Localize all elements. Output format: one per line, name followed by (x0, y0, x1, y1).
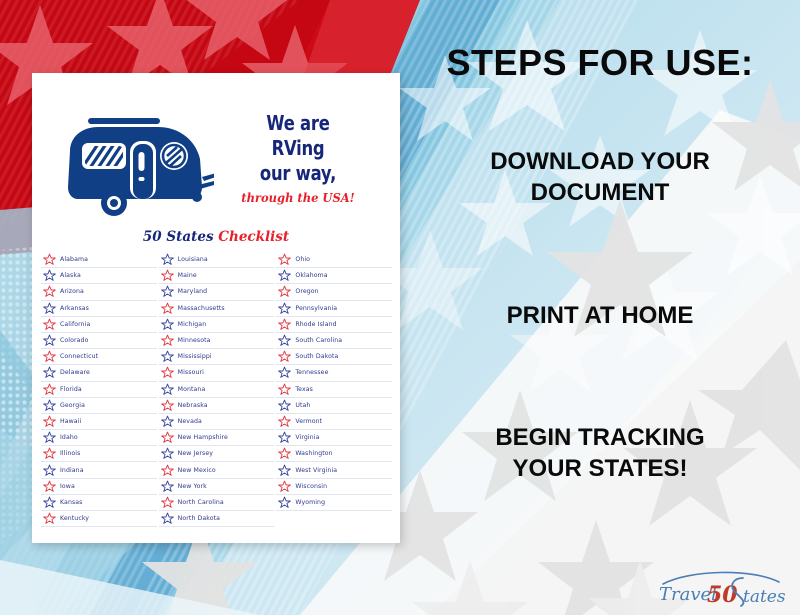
state-row[interactable]: Florida (41, 382, 157, 398)
star-checkbox-icon[interactable] (43, 302, 56, 315)
state-label: New York (178, 483, 207, 490)
state-row[interactable]: Kansas (41, 495, 157, 511)
state-row[interactable]: Rhode Island (276, 317, 392, 333)
headline-script: through the USA! (221, 190, 376, 205)
star-checkbox-icon[interactable] (43, 399, 56, 412)
printable-checklist-card: We are RVing our way, through the USA! 5… (32, 73, 400, 543)
travel-50-states-logo: Travel 50 tates (655, 562, 790, 608)
state-row[interactable]: Texas (276, 382, 392, 398)
star-checkbox-icon[interactable] (278, 496, 291, 509)
star-checkbox-icon[interactable] (43, 447, 56, 460)
state-row[interactable]: California (41, 317, 157, 333)
star-checkbox-icon[interactable] (278, 269, 291, 282)
headline-block: We are RVing our way, through the USA! (214, 111, 382, 205)
state-label: Wyoming (295, 499, 325, 506)
state-label: California (60, 321, 90, 328)
state-row[interactable]: Massachusetts (159, 301, 275, 317)
star-checkbox-icon[interactable] (278, 318, 291, 331)
star-checkbox-icon[interactable] (43, 366, 56, 379)
state-row[interactable]: Pennsylvania (276, 301, 392, 317)
star-checkbox-icon[interactable] (161, 334, 174, 347)
star-checkbox-icon[interactable] (278, 285, 291, 298)
star-checkbox-icon[interactable] (161, 366, 174, 379)
logo-number-50: 50 (707, 582, 738, 608)
state-label: Indiana (60, 467, 84, 474)
star-checkbox-icon[interactable] (43, 334, 56, 347)
star-checkbox-icon[interactable] (161, 253, 174, 266)
state-label: Mississippi (178, 353, 212, 360)
step-download-line-2: DOCUMENT (404, 177, 796, 208)
state-row[interactable]: South Carolina (276, 333, 392, 349)
state-label: Washington (295, 450, 332, 457)
state-label: Idaho (60, 434, 78, 441)
state-label: Arkansas (60, 305, 89, 312)
checklist-title-red: Checklist (218, 229, 289, 245)
star-checkbox-icon[interactable] (278, 302, 291, 315)
star-checkbox-icon[interactable] (161, 512, 174, 525)
state-label: Virginia (295, 434, 319, 441)
state-label: Wisconsin (295, 483, 327, 490)
star-checkbox-icon[interactable] (161, 480, 174, 493)
star-checkbox-icon[interactable] (278, 480, 291, 493)
rv-camper-icon (54, 111, 214, 223)
step-download-line-1: DOWNLOAD YOUR (404, 146, 796, 177)
star-checkbox-icon[interactable] (161, 318, 174, 331)
state-row[interactable]: Arkansas (41, 301, 157, 317)
state-column-2: LouisianaMaineMarylandMassachusettsMichi… (159, 252, 275, 527)
state-label: Kentucky (60, 515, 89, 522)
headline-line-2: RVing (229, 136, 367, 161)
star-checkbox-icon[interactable] (278, 447, 291, 460)
star-checkbox-icon[interactable] (43, 253, 56, 266)
state-row[interactable]: Nebraska (159, 398, 275, 414)
state-label: West Virginia (295, 467, 337, 474)
state-row[interactable]: North Dakota (159, 511, 275, 527)
state-row[interactable]: West Virginia (276, 462, 392, 478)
state-label: Utah (295, 402, 310, 409)
star-checkbox-icon[interactable] (161, 431, 174, 444)
star-checkbox-icon[interactable] (161, 447, 174, 460)
headline-line-1: We are (229, 111, 367, 136)
star-checkbox-icon[interactable] (278, 383, 291, 396)
state-label: Texas (295, 386, 313, 393)
state-row[interactable]: Maryland (159, 284, 275, 300)
star-checkbox-icon[interactable] (43, 512, 56, 525)
state-label: Alabama (60, 256, 88, 263)
state-row[interactable]: Mississippi (159, 349, 275, 365)
state-label: Nevada (178, 418, 202, 425)
state-label: Kansas (60, 499, 83, 506)
state-row[interactable]: New Jersey (159, 446, 275, 462)
state-label: Minnesota (178, 337, 211, 344)
state-label: Georgia (60, 402, 85, 409)
state-row[interactable]: Indiana (41, 462, 157, 478)
state-row[interactable]: Vermont (276, 414, 392, 430)
state-label: Rhode Island (295, 321, 336, 328)
state-label: Illinois (60, 450, 80, 457)
state-row[interactable]: Nevada (159, 414, 275, 430)
star-checkbox-icon[interactable] (278, 431, 291, 444)
star-checkbox-icon[interactable] (161, 350, 174, 363)
state-label: Pennsylvania (295, 305, 337, 312)
state-row[interactable]: Illinois (41, 446, 157, 462)
state-row[interactable]: Delaware (41, 365, 157, 381)
star-checkbox-icon[interactable] (43, 318, 56, 331)
star-checkbox-icon[interactable] (43, 464, 56, 477)
state-row[interactable]: Minnesota (159, 333, 275, 349)
state-label: Hawaii (60, 418, 81, 425)
step-download: DOWNLOAD YOUR DOCUMENT (404, 146, 796, 208)
state-label: Arizona (60, 288, 84, 295)
step-print: PRINT AT HOME (404, 300, 796, 331)
state-label: North Dakota (178, 515, 220, 522)
state-column-1: AlabamaAlaskaArizonaArkansasCaliforniaCo… (41, 252, 157, 527)
state-row[interactable]: Washington (276, 446, 392, 462)
state-column-3: OhioOklahomaOregonPennsylvaniaRhode Isla… (276, 252, 392, 527)
state-row[interactable]: Missouri (159, 365, 275, 381)
state-label: Maryland (178, 288, 208, 295)
state-row[interactable]: Wisconsin (276, 479, 392, 495)
state-label: Delaware (60, 369, 90, 376)
star-checkbox-icon[interactable] (161, 383, 174, 396)
star-checkbox-icon[interactable] (161, 269, 174, 282)
state-row[interactable]: Wyoming (276, 495, 392, 511)
state-row[interactable]: Iowa (41, 479, 157, 495)
star-checkbox-icon[interactable] (278, 399, 291, 412)
headline-line-3: our way, (229, 161, 367, 186)
star-checkbox-icon[interactable] (43, 496, 56, 509)
state-row[interactable]: Oklahoma (276, 268, 392, 284)
star-checkbox-icon[interactable] (43, 383, 56, 396)
star-checkbox-icon[interactable] (43, 285, 56, 298)
star-checkbox-icon[interactable] (161, 464, 174, 477)
state-row[interactable]: Virginia (276, 430, 392, 446)
star-checkbox-icon[interactable] (43, 431, 56, 444)
star-checkbox-icon[interactable] (43, 350, 56, 363)
star-checkbox-icon[interactable] (278, 334, 291, 347)
state-row[interactable]: New Mexico (159, 462, 275, 478)
checklist-title-navy: 50 States (143, 229, 214, 245)
state-row[interactable]: Tennessee (276, 365, 392, 381)
state-row[interactable]: Kentucky (41, 511, 157, 527)
state-label: Alaska (60, 272, 81, 279)
state-label: Oregon (295, 288, 318, 295)
state-row[interactable]: Michigan (159, 317, 275, 333)
state-label: Montana (178, 386, 206, 393)
checklist-title: 50 States Checklist (32, 229, 400, 245)
star-checkbox-icon[interactable] (43, 415, 56, 428)
star-checkbox-icon[interactable] (161, 496, 174, 509)
logo-word-states: tates (743, 587, 786, 607)
state-label: North Carolina (178, 499, 224, 506)
state-label: Florida (60, 386, 82, 393)
state-label: New Mexico (178, 467, 216, 474)
state-label: New Jersey (178, 450, 213, 457)
state-row[interactable]: Louisiana (159, 252, 275, 268)
state-row[interactable]: Ohio (276, 252, 392, 268)
state-label: Connecticut (60, 353, 98, 360)
state-row[interactable]: Oregon (276, 284, 392, 300)
step-track: BEGIN TRACKING YOUR STATES! (404, 422, 796, 484)
star-checkbox-icon[interactable] (43, 480, 56, 493)
star-checkbox-icon[interactable] (161, 399, 174, 412)
state-label: Nebraska (178, 402, 208, 409)
state-row[interactable]: Arizona (41, 284, 157, 300)
state-columns: AlabamaAlaskaArizonaArkansasCaliforniaCo… (32, 252, 400, 527)
state-row[interactable]: Alaska (41, 268, 157, 284)
state-label: Oklahoma (295, 272, 327, 279)
state-label: Vermont (295, 418, 322, 425)
state-label: Tennessee (295, 369, 328, 376)
star-checkbox-icon[interactable] (278, 464, 291, 477)
state-label: New Hampshire (178, 434, 228, 441)
card-header: We are RVing our way, through the USA! (32, 73, 400, 225)
state-label: South Dakota (295, 353, 338, 360)
state-label: Missouri (178, 369, 204, 376)
state-label: Louisiana (178, 256, 208, 263)
state-label: Colorado (60, 337, 88, 344)
star-checkbox-icon[interactable] (43, 269, 56, 282)
state-row[interactable]: New Hampshire (159, 430, 275, 446)
state-row[interactable]: Colorado (41, 333, 157, 349)
state-row[interactable]: Idaho (41, 430, 157, 446)
state-row[interactable]: Connecticut (41, 349, 157, 365)
steps-heading: STEPS FOR USE: (404, 42, 796, 84)
state-label: Massachusetts (178, 305, 225, 312)
state-row[interactable]: Georgia (41, 398, 157, 414)
star-checkbox-icon[interactable] (161, 302, 174, 315)
star-checkbox-icon[interactable] (161, 415, 174, 428)
state-label: Maine (178, 272, 197, 279)
star-checkbox-icon[interactable] (278, 415, 291, 428)
step-track-line-1: BEGIN TRACKING (404, 422, 796, 453)
state-row[interactable]: Montana (159, 382, 275, 398)
step-print-line-1: PRINT AT HOME (404, 300, 796, 331)
state-label: Michigan (178, 321, 207, 328)
star-checkbox-icon[interactable] (278, 366, 291, 379)
state-label: South Carolina (295, 337, 342, 344)
star-checkbox-icon[interactable] (161, 285, 174, 298)
star-checkbox-icon[interactable] (278, 253, 291, 266)
star-checkbox-icon[interactable] (278, 350, 291, 363)
state-row[interactable]: New York (159, 479, 275, 495)
state-row[interactable]: North Carolina (159, 495, 275, 511)
state-row[interactable]: South Dakota (276, 349, 392, 365)
state-row[interactable]: Hawaii (41, 414, 157, 430)
step-track-line-2: YOUR STATES! (404, 453, 796, 484)
state-label: Iowa (60, 483, 75, 490)
state-row[interactable]: Alabama (41, 252, 157, 268)
state-row[interactable]: Maine (159, 268, 275, 284)
state-row[interactable]: Utah (276, 398, 392, 414)
state-label: Ohio (295, 256, 310, 263)
